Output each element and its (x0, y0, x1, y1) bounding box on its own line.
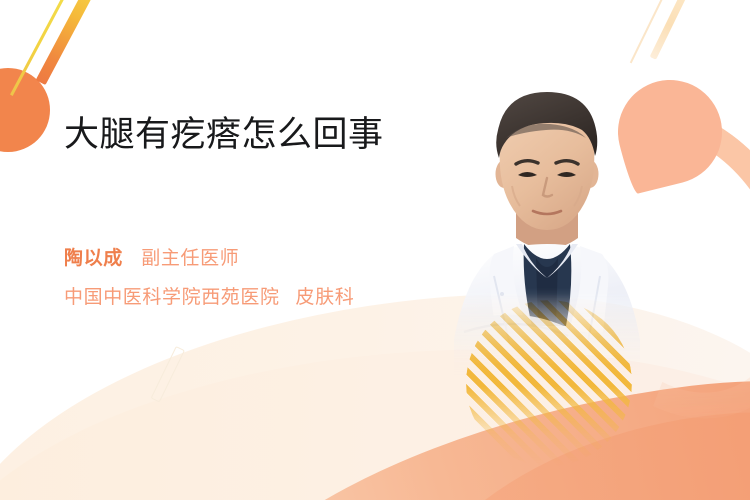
background-wave-peach-soft (372, 402, 750, 500)
doctor-title: 副主任医师 (141, 248, 239, 269)
doctor-hospital: 中国中医科学院西苑医院 (64, 287, 280, 308)
diagonal-stripe-orange-icon (36, 0, 102, 85)
doctor-credentials: 陶以成 副主任医师 中国中医科学院西苑医院 皮肤科 (64, 245, 464, 312)
doctor-name-row: 陶以成 副主任医师 (64, 245, 464, 274)
background-wave-cream (0, 334, 750, 500)
doctor-affiliation-row: 中国中医科学院西苑医院 皮肤科 (64, 284, 464, 313)
peach-arc-blob (607, 69, 733, 195)
doctor-article-card: 大腿有疙瘩怎么回事 陶以成 副主任医师 中国中医科学院西苑医院 皮肤科 (0, 0, 750, 500)
doctor-name: 陶以成 (64, 248, 123, 269)
background-wave-peach (138, 344, 750, 500)
peach-arc-decoration (556, 72, 750, 402)
title-block: 大腿有疙瘩怎么回事 (64, 112, 424, 158)
doctor-portrait (432, 78, 662, 378)
striped-circle-decoration (466, 300, 632, 466)
peach-arc-ring (501, 65, 750, 460)
diagonal-stripe-cream-outline-icon (151, 346, 185, 403)
page-title: 大腿有疙瘩怎么回事 (64, 112, 424, 158)
doctor-department: 皮肤科 (296, 287, 355, 308)
